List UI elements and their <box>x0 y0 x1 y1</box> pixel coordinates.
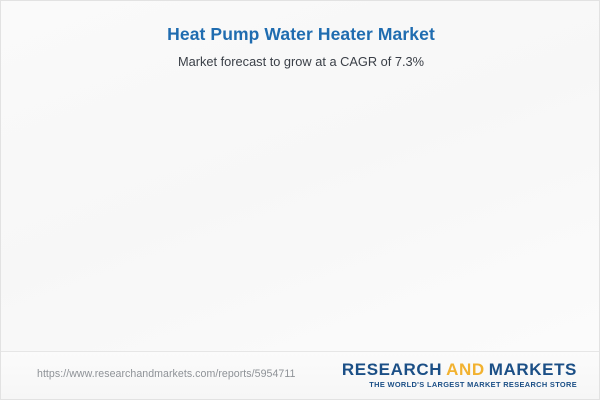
chart-plot-area: USD 2.8 Billion 2026 USD 3.72 Billion <box>1 1 600 353</box>
brand-name: RESEARCHANDMARKETS <box>342 360 577 379</box>
brand-word-research: RESEARCH <box>342 360 442 379</box>
brand-word-markets: MARKETS <box>489 360 577 379</box>
brand-word-and: AND <box>446 360 485 379</box>
brand-tagline: THE WORLD'S LARGEST MARKET RESEARCH STOR… <box>342 380 577 390</box>
infographic-container: Heat Pump Water Heater Market Market for… <box>0 0 600 400</box>
brand-logo[interactable]: RESEARCHANDMARKETS THE WORLD'S LARGEST M… <box>342 360 577 390</box>
footer-bar: https://www.researchandmarkets.com/repor… <box>1 351 600 399</box>
report-url[interactable]: https://www.researchandmarkets.com/repor… <box>37 368 295 380</box>
